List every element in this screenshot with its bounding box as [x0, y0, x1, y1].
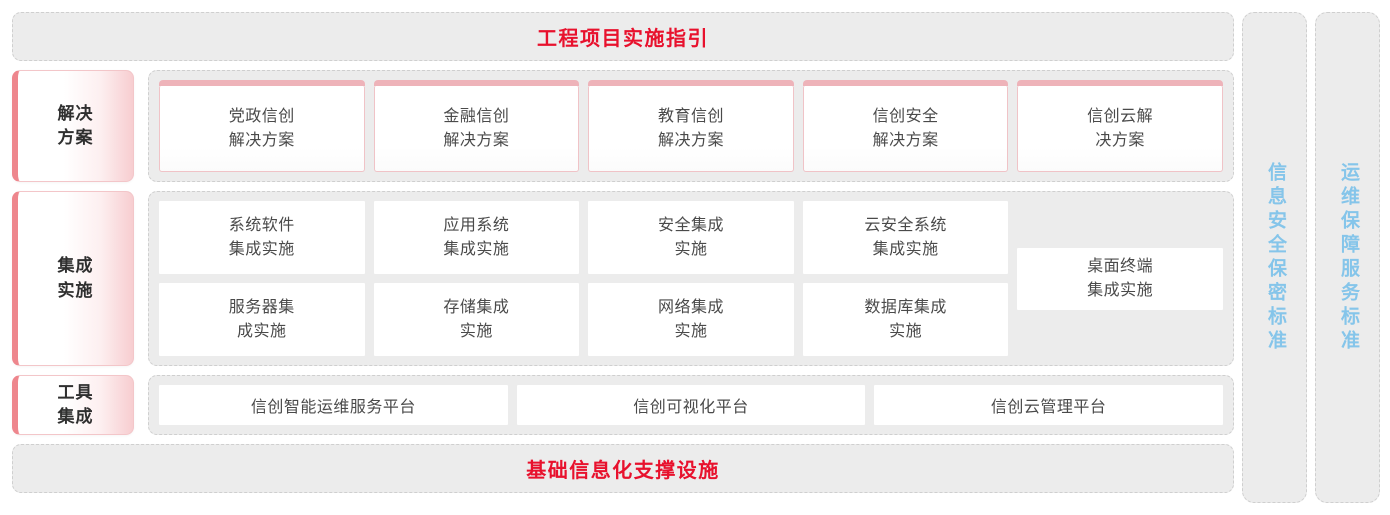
page-title: 工程项目实施指引: [537, 22, 709, 51]
solutions-band: 党政信创 解决方案 金融信创 解决方案 教育信创 解决方案 信创安全 解决方案 …: [148, 70, 1234, 182]
header-banner: 工程项目实施指引: [12, 12, 1234, 61]
integration-column: 系统软件 集成实施 服务器集 成实施: [159, 201, 365, 356]
side-pillar-service-standard[interactable]: 运维保障服务标准: [1315, 12, 1380, 503]
side-pillar-security-standard[interactable]: 信息安全保密标准: [1242, 12, 1307, 503]
category-tab-solutions[interactable]: 解决 方案: [12, 70, 134, 182]
solution-card[interactable]: 金融信创 解决方案: [374, 86, 580, 172]
integration-cell-label: 桌面终端 集成实施: [1087, 255, 1153, 303]
tool-platform-card[interactable]: 信创可视化平台: [517, 385, 866, 425]
integration-cell-label: 数据库集成 实施: [864, 296, 947, 344]
integration-column: 安全集成 实施 网络集成 实施: [588, 201, 794, 356]
integration-cell-label: 服务器集 成实施: [229, 296, 295, 344]
side-pillar-label: 运维保障服务标准: [1337, 162, 1358, 354]
solution-card-label: 信创安全 解决方案: [873, 105, 939, 153]
integration-cell[interactable]: 存储集成 实施: [374, 283, 580, 356]
tools-band: 信创智能运维服务平台 信创可视化平台 信创云管理平台: [148, 375, 1234, 435]
solution-card[interactable]: 教育信创 解决方案: [588, 86, 794, 172]
integration-cell-label: 系统软件 集成实施: [229, 214, 295, 262]
category-tab-integration[interactable]: 集成 实施: [12, 191, 134, 366]
integration-cell-label: 存储集成 实施: [443, 296, 509, 344]
integration-grid: 系统软件 集成实施 服务器集 成实施 应用系统 集成实施 存储集成 实施: [159, 201, 1223, 356]
tool-platform-card[interactable]: 信创智能运维服务平台: [159, 385, 508, 425]
side-pillars: 信息安全保密标准 运维保障服务标准: [1242, 0, 1390, 515]
solution-card-label: 金融信创 解决方案: [443, 105, 509, 153]
category-tab-tools-label: 工具 集成: [58, 381, 94, 429]
integration-column: 应用系统 集成实施 存储集成 实施: [374, 201, 580, 356]
main-column: 工程项目实施指引 解决 方案 党政信创 解决方案 金融信创 解决方案 教育信创 …: [0, 0, 1242, 515]
solution-card[interactable]: 党政信创 解决方案: [159, 86, 365, 172]
tool-platform-label: 信创智能运维服务平台: [251, 393, 416, 417]
integration-cell[interactable]: 安全集成 实施: [588, 201, 794, 274]
category-tab-solutions-label: 解决 方案: [58, 102, 94, 150]
tool-platform-label: 信创云管理平台: [991, 393, 1107, 417]
category-tab-tools[interactable]: 工具 集成: [12, 375, 134, 435]
integration-cell[interactable]: 数据库集成 实施: [803, 283, 1009, 356]
integration-cell[interactable]: 系统软件 集成实施: [159, 201, 365, 274]
integration-cell-label: 网络集成 实施: [658, 296, 724, 344]
solution-card-label: 教育信创 解决方案: [658, 105, 724, 153]
row-solutions: 解决 方案 党政信创 解决方案 金融信创 解决方案 教育信创 解决方案 信创安全…: [12, 70, 1234, 182]
solution-card-label: 党政信创 解决方案: [229, 105, 295, 153]
integration-cell-label: 安全集成 实施: [658, 214, 724, 262]
row-integration: 集成 实施 系统软件 集成实施 服务器集 成实施 应用系统 集成实施: [12, 191, 1234, 366]
footer-banner: 基础信息化支撑设施: [12, 444, 1234, 493]
integration-cell[interactable]: 云安全系统 集成实施: [803, 201, 1009, 274]
tool-platform-card[interactable]: 信创云管理平台: [874, 385, 1223, 425]
diagram-root: 工程项目实施指引 解决 方案 党政信创 解决方案 金融信创 解决方案 教育信创 …: [0, 0, 1390, 515]
integration-cell-label: 应用系统 集成实施: [443, 214, 509, 262]
integration-band: 系统软件 集成实施 服务器集 成实施 应用系统 集成实施 存储集成 实施: [148, 191, 1234, 366]
integration-cell[interactable]: 网络集成 实施: [588, 283, 794, 356]
integration-column: 桌面终端 集成实施: [1017, 201, 1223, 356]
integration-cell[interactable]: 应用系统 集成实施: [374, 201, 580, 274]
category-tab-integration-label: 集成 实施: [58, 254, 94, 302]
footer-title: 基础信息化支撑设施: [526, 454, 720, 483]
solution-card[interactable]: 信创安全 解决方案: [803, 86, 1009, 172]
integration-cell-label: 云安全系统 集成实施: [864, 214, 947, 262]
row-tools: 工具 集成 信创智能运维服务平台 信创可视化平台 信创云管理平台: [12, 375, 1234, 435]
integration-column: 云安全系统 集成实施 数据库集成 实施: [803, 201, 1009, 356]
integration-cell-desktop-terminal[interactable]: 桌面终端 集成实施: [1017, 248, 1223, 310]
tool-platform-label: 信创可视化平台: [633, 393, 749, 417]
solution-card-label: 信创云解 决方案: [1087, 105, 1153, 153]
side-pillar-label: 信息安全保密标准: [1264, 162, 1285, 354]
integration-cell[interactable]: 服务器集 成实施: [159, 283, 365, 356]
solution-card[interactable]: 信创云解 决方案: [1017, 86, 1223, 172]
